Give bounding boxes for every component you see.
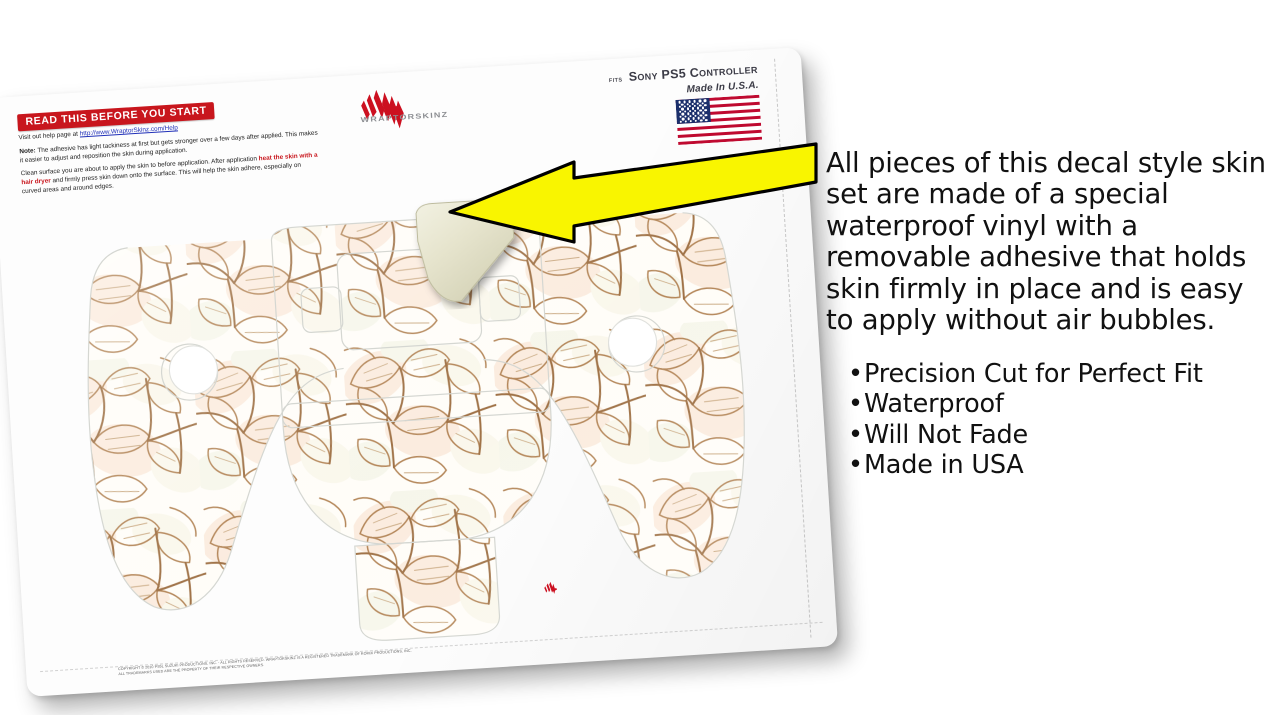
- skin-logo-watermark: [544, 581, 557, 594]
- instructions-block: READ THIS BEFORE YOU START Visit out hel…: [17, 94, 322, 198]
- feature-item: •Waterproof: [848, 389, 1272, 419]
- feature-item: •Made in USA: [848, 450, 1272, 480]
- note-label: Note:: [19, 147, 36, 155]
- flag-canton: [675, 98, 710, 124]
- feature-item: •Will Not Fade: [848, 420, 1272, 450]
- bullet-icon: •: [848, 420, 864, 450]
- flag-star: [690, 120, 693, 123]
- feature-label: Precision Cut for Perfect Fit: [864, 359, 1203, 389]
- fits-prefix: FITS: [609, 77, 623, 84]
- bullet-icon: •: [848, 389, 864, 419]
- feature-item: •Precision Cut for Perfect Fit: [848, 359, 1272, 389]
- feature-label: Will Not Fade: [864, 420, 1028, 450]
- feature-label: Waterproof: [864, 389, 1004, 419]
- flag-star: [684, 115, 687, 118]
- feature-label: Made in USA: [864, 450, 1024, 480]
- flag-star: [689, 115, 692, 118]
- flag-star: [704, 99, 707, 102]
- peel-tab-arrow: [448, 138, 818, 248]
- flag-star: [700, 119, 703, 122]
- flag-star: [684, 120, 687, 123]
- wraptorskinz-logo: WRAPTORSKINZ: [335, 82, 473, 138]
- feature-list: •Precision Cut for Perfect Fit •Waterpro…: [826, 359, 1272, 480]
- flag-star: [684, 105, 687, 108]
- flag-star: [683, 101, 686, 104]
- marketing-panel: All pieces of this decal style skin set …: [826, 148, 1272, 480]
- flag-star: [684, 110, 687, 113]
- flag-star: [689, 105, 692, 108]
- screenshot-root: READ THIS BEFORE YOU START Visit out hel…: [0, 0, 1280, 715]
- promo-paragraph: All pieces of this decal style skin set …: [826, 148, 1272, 337]
- flag-star: [689, 110, 692, 113]
- arrow-shape: [448, 138, 818, 248]
- flag-star: [705, 119, 708, 122]
- flag-star: [704, 104, 707, 107]
- flag-star: [688, 100, 691, 103]
- flag-star: [679, 120, 682, 123]
- bullet-icon: •: [848, 359, 864, 389]
- bullet-icon: •: [848, 450, 864, 480]
- flag-star: [695, 119, 698, 122]
- flag-star: [694, 100, 697, 103]
- flag-star: [705, 114, 708, 117]
- help-line-prefix: Visit out help page at: [18, 131, 80, 142]
- flag-star: [704, 109, 707, 112]
